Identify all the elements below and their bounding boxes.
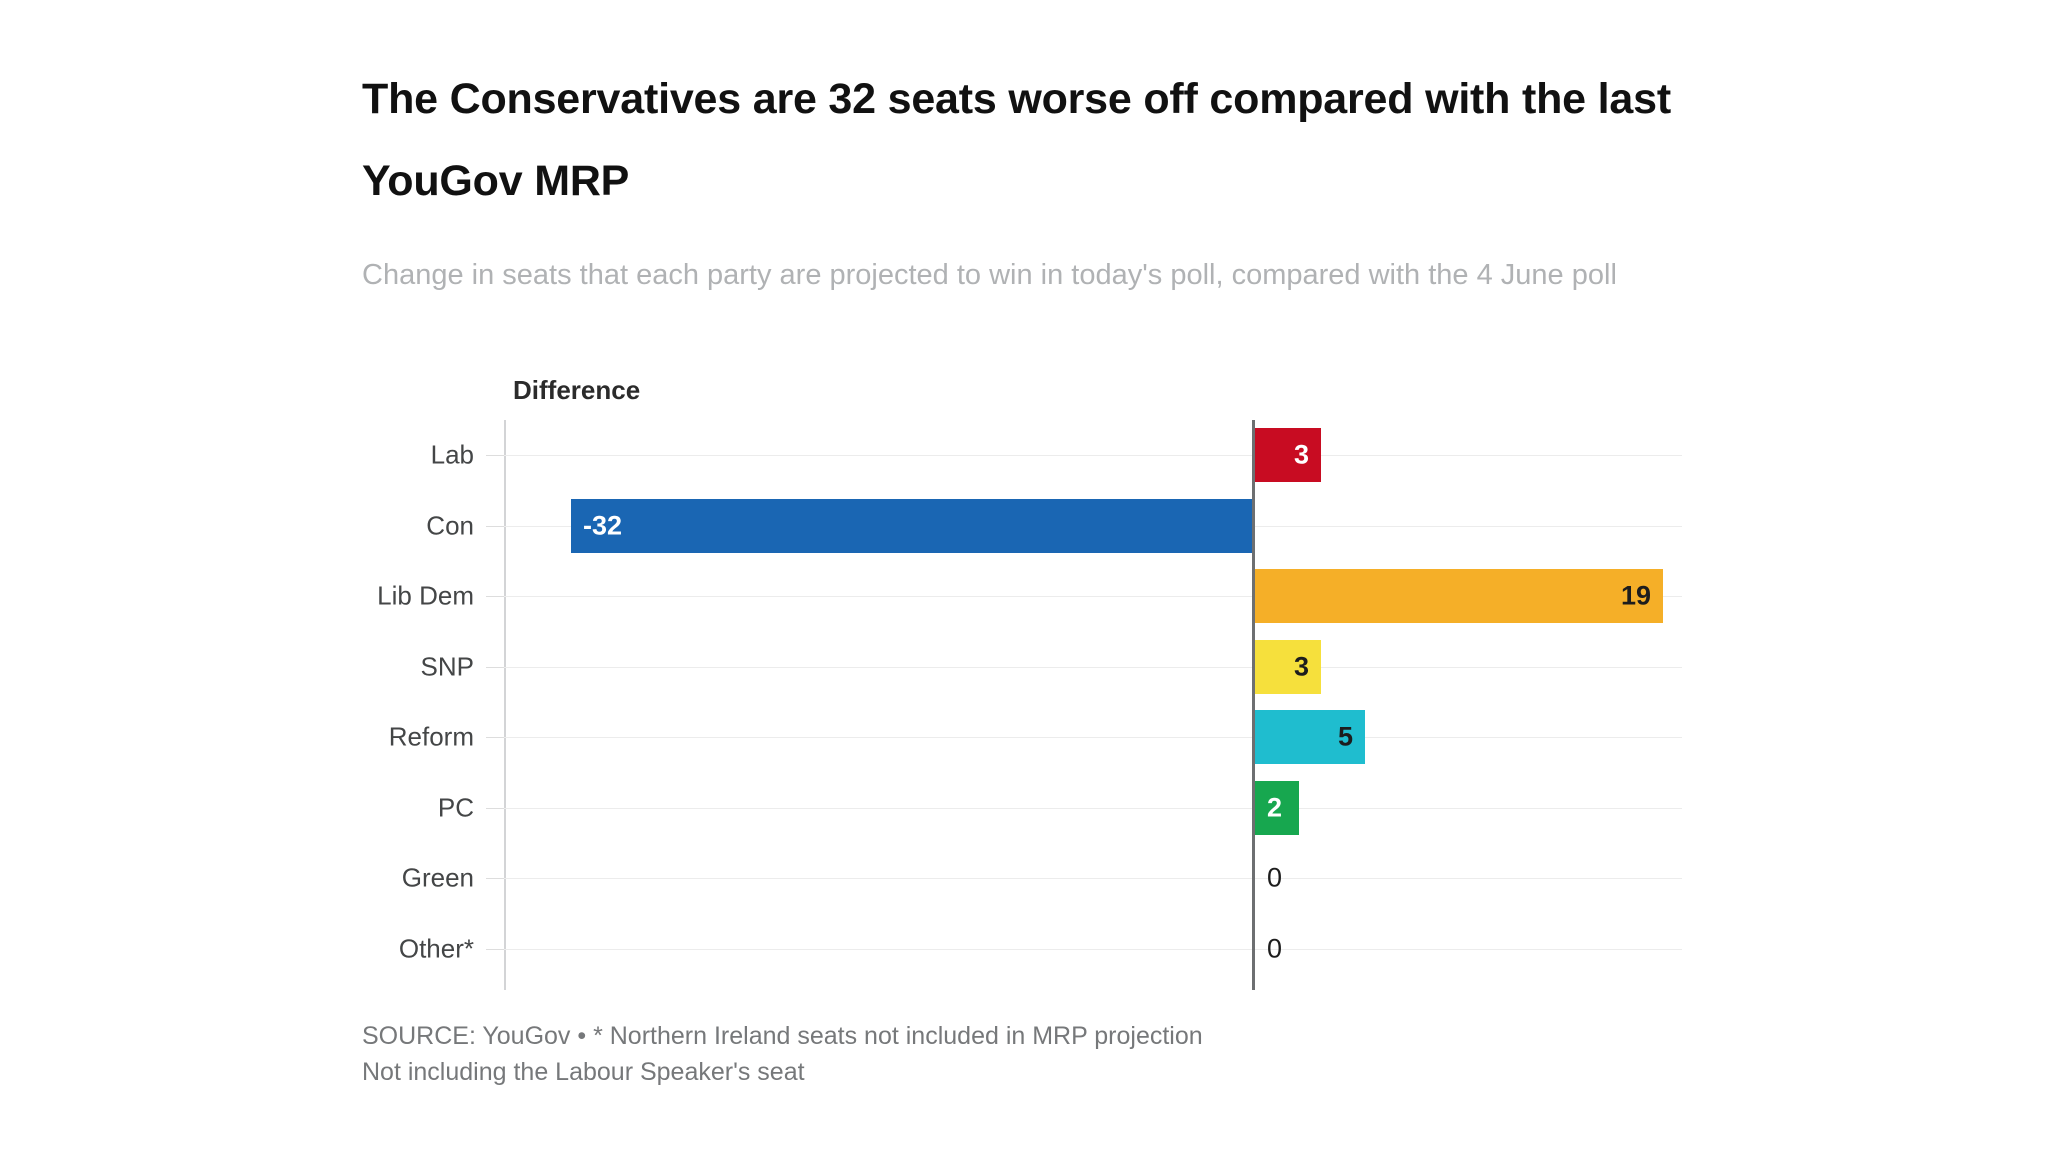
page-title: The Conservatives are 32 seats worse off… — [362, 58, 1702, 222]
gridline — [504, 808, 1682, 809]
bar-value-pc: 2 — [1267, 792, 1282, 823]
footer-source-line: SOURCE: YouGov • * Northern Ireland seat… — [362, 1018, 1762, 1054]
category-label-snp: SNP — [421, 651, 474, 682]
chart-row: SNP 3 — [504, 632, 1682, 703]
chart-footer: SOURCE: YouGov • * Northern Ireland seat… — [362, 1018, 1762, 1090]
plot-area: Lab 3 Con -32 Lib Dem 19 — [504, 420, 1682, 990]
bar-lib-dem[interactable]: 19 — [1255, 569, 1663, 623]
gridline — [504, 737, 1682, 738]
bar-reform[interactable]: 5 — [1255, 710, 1365, 764]
category-label-other: Other* — [399, 933, 474, 964]
chart-row: PC 2 — [504, 773, 1682, 844]
chart-page: The Conservatives are 32 seats worse off… — [0, 0, 2048, 1152]
bar-value-lab: 3 — [1294, 440, 1309, 471]
axis-tick — [486, 455, 504, 456]
axis-tick — [486, 596, 504, 597]
category-label-reform: Reform — [389, 722, 474, 753]
axis-tick — [486, 808, 504, 809]
bar-lab[interactable]: 3 — [1255, 428, 1321, 482]
axis-tick — [486, 878, 504, 879]
gridline — [504, 878, 1682, 879]
axis-tick — [486, 526, 504, 527]
gridline — [504, 949, 1682, 950]
category-label-green: Green — [402, 863, 474, 894]
bar-value-reform: 5 — [1338, 722, 1353, 753]
chart-row: Con -32 — [504, 491, 1682, 562]
bar-chart: Lab 3 Con -32 Lib Dem 19 — [0, 420, 2048, 1000]
bar-value-con: -32 — [583, 510, 622, 541]
category-label-con: Con — [426, 510, 474, 541]
bar-value-lib-dem: 19 — [1621, 581, 1651, 612]
chart-row: Other* 0 — [504, 914, 1682, 985]
bar-value-green: 0 — [1267, 863, 1282, 894]
bar-pc[interactable]: 2 — [1255, 781, 1299, 835]
chart-row: Lab 3 — [504, 420, 1682, 491]
bar-snp[interactable]: 3 — [1255, 640, 1321, 694]
chart-row: Reform 5 — [504, 702, 1682, 773]
bar-con[interactable]: -32 — [571, 499, 1255, 553]
category-label-lab: Lab — [431, 440, 474, 471]
axis-tick — [486, 667, 504, 668]
axis-tick — [486, 949, 504, 950]
gridline — [504, 667, 1682, 668]
gridline — [504, 455, 1682, 456]
category-label-pc: PC — [438, 792, 474, 823]
axis-column-header: Difference — [513, 375, 640, 406]
category-label-lib-dem: Lib Dem — [377, 581, 474, 612]
axis-tick — [486, 737, 504, 738]
footer-note-line: Not including the Labour Speaker's seat — [362, 1054, 1762, 1090]
chart-row: Green 0 — [504, 843, 1682, 914]
bar-value-other: 0 — [1267, 933, 1282, 964]
bar-value-snp: 3 — [1294, 651, 1309, 682]
zero-baseline — [1252, 420, 1255, 990]
chart-row: Lib Dem 19 — [504, 561, 1682, 632]
page-subtitle: Change in seats that each party are proj… — [362, 252, 1682, 299]
